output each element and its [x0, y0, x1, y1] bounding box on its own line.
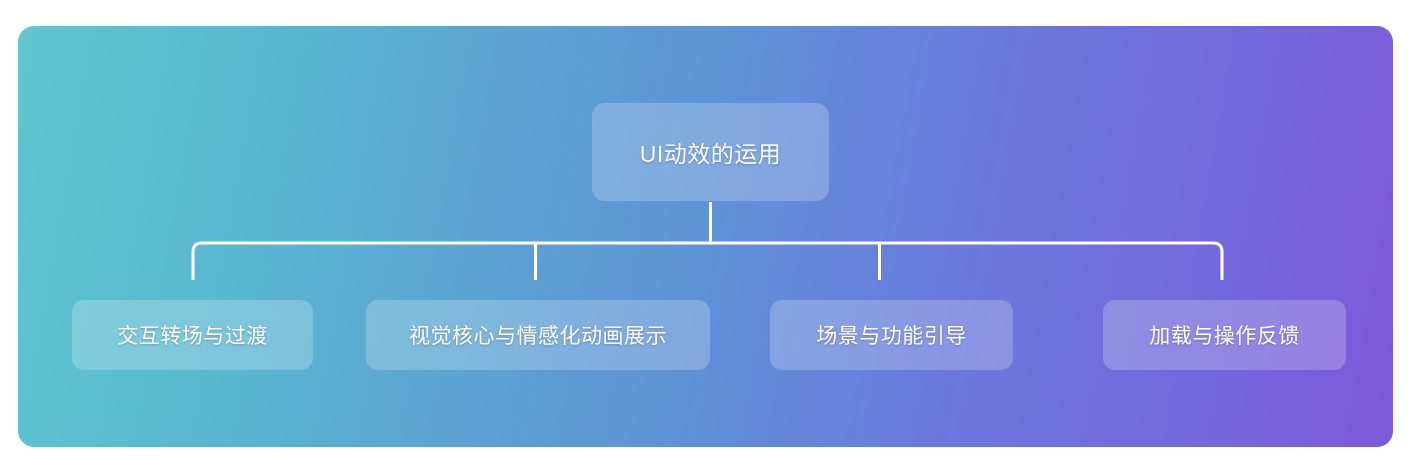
node-leaf-2[interactable]: 视觉核心与情感化动画展示 [366, 300, 710, 370]
node-leaf-4-label: 加载与操作反馈 [1149, 320, 1300, 350]
node-leaf-4[interactable]: 加载与操作反馈 [1103, 300, 1346, 370]
node-leaf-3-label: 场景与功能引导 [816, 320, 967, 350]
node-leaf-2-label: 视觉核心与情感化动画展示 [409, 320, 667, 350]
diagram-canvas: UI动效的运用 交互转场与过渡 视觉核心与情感化动画展示 场景与功能引导 加载与… [0, 0, 1410, 468]
connector-lines [18, 26, 1393, 447]
node-leaf-1-label: 交互转场与过渡 [117, 320, 268, 350]
node-root-label: UI动效的运用 [640, 135, 782, 169]
connector-bus [193, 243, 1222, 280]
gradient-panel: UI动效的运用 交互转场与过渡 视觉核心与情感化动画展示 场景与功能引导 加载与… [18, 26, 1393, 447]
node-leaf-3[interactable]: 场景与功能引导 [770, 300, 1013, 370]
node-root[interactable]: UI动效的运用 [592, 103, 829, 201]
node-leaf-1[interactable]: 交互转场与过渡 [72, 300, 313, 370]
